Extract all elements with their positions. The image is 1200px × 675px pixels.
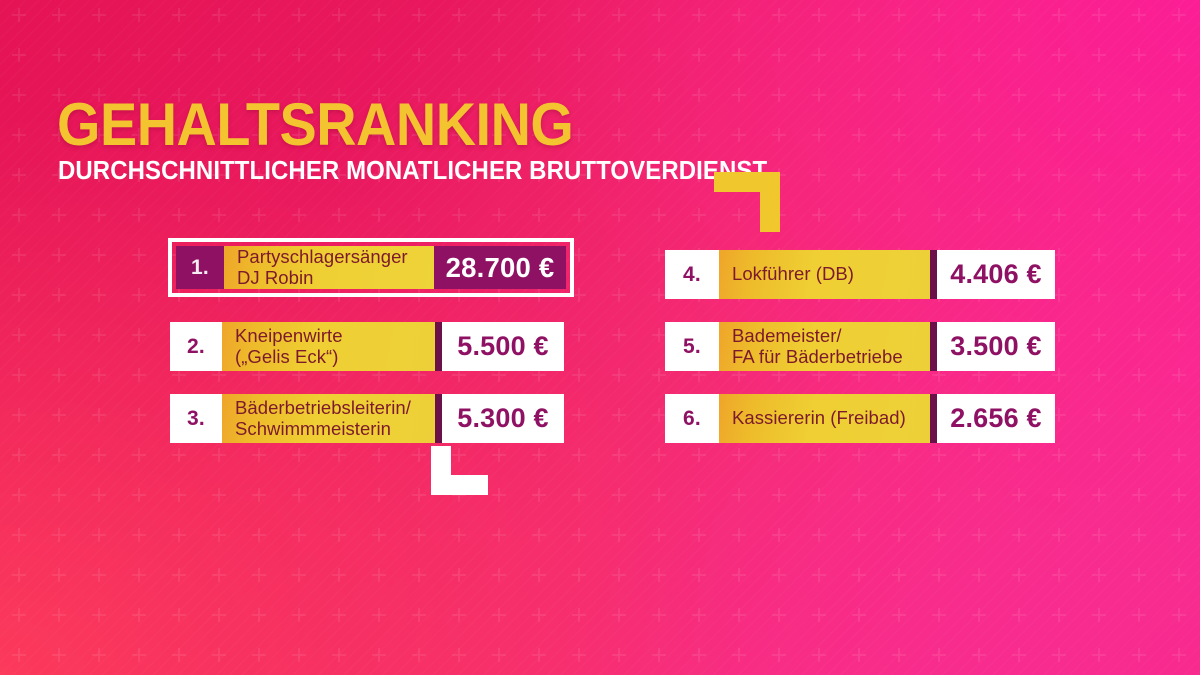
table-row: 1. Partyschlagersänger DJ Robin 28.700 € (168, 238, 574, 297)
rank-label: Partyschlagersänger DJ Robin (224, 246, 434, 289)
rank-label: Bademeister/ FA für Bäderbetriebe (719, 322, 930, 371)
rank-label-line2: Schwimmmeisterin (235, 419, 427, 440)
row-divider (930, 394, 937, 443)
rank-number: 2. (170, 322, 222, 371)
row-divider (435, 322, 442, 371)
rank-number: 6. (665, 394, 719, 443)
rank-label-line2: („Gelis Eck“) (235, 347, 427, 368)
rank-value: 5.500 € (442, 322, 564, 371)
rank-label: Bäderbetriebsleiterin/ Schwimmmeisterin (222, 394, 435, 443)
row-divider (930, 250, 937, 299)
rank-number: 4. (665, 250, 719, 299)
rank-label-line1: Bademeister/ (732, 326, 922, 347)
rank-label-line1: Kassiererin (Freibad) (732, 408, 922, 429)
rank-number: 5. (665, 322, 719, 371)
rank-label-line1: Kneipenwirte (235, 326, 427, 347)
page-title: GEHALTSRANKING (57, 96, 760, 154)
rank-label: Kneipenwirte („Gelis Eck“) (222, 322, 435, 371)
rank-label-line1: Bäderbetriebsleiterin/ (235, 398, 427, 419)
rank-value: 28.700 € (434, 246, 566, 289)
rank-number: 3. (170, 394, 222, 443)
table-row: 2. Kneipenwirte („Gelis Eck“) 5.500 € (170, 322, 564, 371)
rank-value: 2.656 € (937, 394, 1055, 443)
row-divider (930, 322, 937, 371)
headline-block: GEHALTSRANKING DURCHSCHNITTLICHER MONATL… (57, 96, 812, 185)
table-row: 6. Kassiererin (Freibad) 2.656 € (665, 394, 1055, 443)
rank-label: Lokführer (DB) (719, 250, 930, 299)
row-divider (435, 394, 442, 443)
bracket-arm-vertical (760, 172, 780, 232)
rank-value: 5.300 € (442, 394, 564, 443)
rank-number: 1. (176, 246, 224, 289)
corner-bracket-yellow-icon (714, 172, 780, 232)
rank-value: 3.500 € (937, 322, 1055, 371)
rank-label-line2: DJ Robin (237, 268, 426, 289)
rank-label-line2: FA für Bäderbetriebe (732, 347, 922, 368)
page-subtitle: DURCHSCHNITTLICHER MONATLICHER BRUTTOVER… (58, 158, 767, 185)
table-row: 3. Bäderbetriebsleiterin/ Schwimmmeister… (170, 394, 564, 443)
infographic-slide: GEHALTSRANKING DURCHSCHNITTLICHER MONATL… (0, 0, 1200, 675)
table-row: 5. Bademeister/ FA für Bäderbetriebe 3.5… (665, 322, 1055, 371)
rank-label-line1: Partyschlagersänger (237, 247, 426, 268)
rank-value: 4.406 € (937, 250, 1055, 299)
rank-label: Kassiererin (Freibad) (719, 394, 930, 443)
table-row: 4. Lokführer (DB) 4.406 € (665, 250, 1055, 299)
rank-label-line1: Lokführer (DB) (732, 264, 922, 285)
corner-bracket-white-icon (431, 446, 488, 495)
bracket-arm-horizontal (431, 475, 488, 495)
